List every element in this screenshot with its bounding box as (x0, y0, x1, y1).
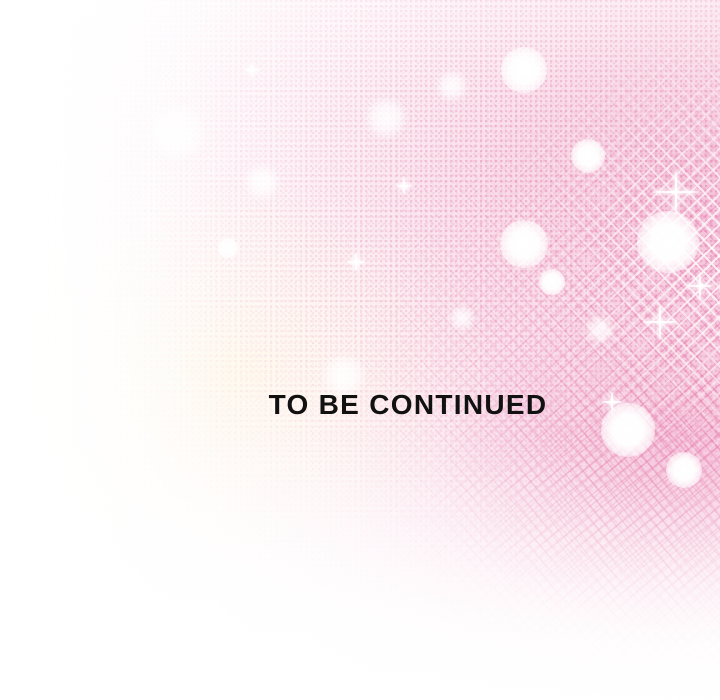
to-be-continued-caption: TO BE CONTINUED (0, 390, 720, 420)
bokeh-orb-5 (501, 47, 547, 93)
sparkle-1 (653, 169, 699, 215)
lace-mesh-mid-speckle (0, 0, 720, 700)
bokeh-orb-3 (366, 98, 406, 138)
background-gradient-warm-tint (0, 0, 720, 700)
bokeh-orb-14 (218, 238, 238, 258)
comic-end-panel: TO BE CONTINUED (0, 0, 720, 700)
lace-mesh-white-net (0, 0, 720, 700)
sparkle-3 (687, 273, 713, 299)
bokeh-orb-15 (450, 306, 474, 330)
bokeh-orb-6 (571, 139, 605, 173)
sparkle-5 (396, 178, 412, 194)
bokeh-orb-2 (245, 165, 279, 199)
background-gradient-pink (0, 0, 720, 700)
background-white-fade (0, 0, 720, 700)
sparkle-layer (0, 0, 720, 700)
bokeh-orb-13 (586, 316, 614, 344)
bokeh-orb-1 (148, 104, 204, 160)
sparkle-7 (245, 63, 259, 77)
background-top-fade (0, 0, 720, 700)
bokeh-orb-7 (637, 211, 699, 273)
sparkle-2 (643, 305, 677, 339)
bokeh-orb-4 (437, 71, 467, 101)
bokeh-orb-8 (500, 220, 548, 268)
lace-mesh-crosshatch-low (0, 0, 720, 700)
sparkle-4 (347, 253, 365, 271)
background-gradient-lower-bloom (0, 0, 720, 700)
bokeh-orb-9 (539, 269, 565, 295)
lace-mesh-fine-texture (0, 0, 720, 700)
bokeh-orb-12 (666, 452, 702, 488)
lace-mesh-crosshatch (0, 0, 720, 700)
bokeh-light-layer (0, 0, 720, 700)
